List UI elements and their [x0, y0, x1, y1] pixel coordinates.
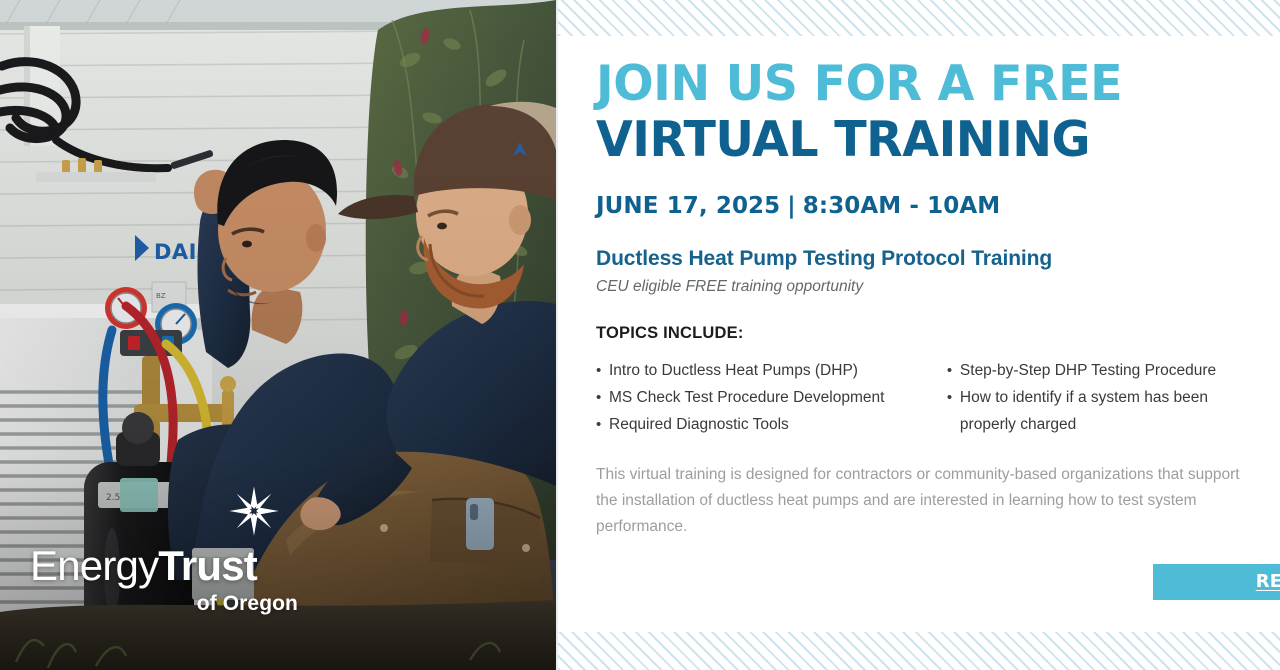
page-title: JOIN US FOR A FREE VIRTUAL TRAINING	[596, 56, 1246, 168]
topic-label: MS Check Test Procedure Development	[609, 384, 947, 411]
bullet-icon: •	[947, 357, 960, 384]
event-time: 8:30AM - 10AM	[803, 193, 1000, 219]
content-panel: JOIN US FOR A FREE VIRTUAL TRAINING JUNE…	[556, 0, 1280, 670]
list-item: • MS Check Test Procedure Development	[596, 384, 947, 411]
hero-photo: DAIKIN BZ	[0, 0, 556, 670]
register-button[interactable]: REGISTER TO RESERVE YOUR SPOT TODAY!	[1153, 564, 1280, 600]
diagonal-stripe-top	[558, 0, 1280, 36]
list-item: • Intro to Ductless Heat Pumps (DHP)	[596, 357, 947, 384]
topics-column-right: • Step-by-Step DHP Testing Procedure • H…	[947, 357, 1246, 438]
content-inner: JOIN US FOR A FREE VIRTUAL TRAINING JUNE…	[596, 56, 1246, 540]
list-item: • How to identify if a system has been p…	[947, 384, 1246, 438]
promo-banner: DAIKIN BZ	[0, 0, 1280, 670]
headline-line-1: JOIN US FOR A FREE	[596, 56, 1227, 112]
bullet-icon: •	[596, 411, 609, 438]
topics-column-left: • Intro to Ductless Heat Pumps (DHP) • M…	[596, 357, 947, 438]
session-subtitle: CEU eligible FREE training opportunity	[596, 277, 1246, 297]
bullet-icon: •	[596, 357, 609, 384]
date-separator: |	[780, 193, 803, 219]
topic-label: How to identify if a system has been pro…	[960, 384, 1246, 438]
topic-label: Step-by-Step DHP Testing Procedure	[960, 357, 1246, 384]
list-item: • Required Diagnostic Tools	[596, 411, 947, 438]
event-date: JUNE 17, 2025	[596, 193, 780, 219]
event-datetime: JUNE 17, 2025|8:30AM - 10AM	[596, 192, 1246, 220]
bullet-icon: •	[947, 384, 960, 411]
bullet-icon: •	[596, 384, 609, 411]
topic-label: Required Diagnostic Tools	[609, 411, 947, 438]
description-text: This virtual training is designed for co…	[596, 462, 1244, 540]
topic-label: Intro to Ductless Heat Pumps (DHP)	[609, 357, 947, 384]
register-button-label: REGISTER TO RESERVE YOUR SPOT TODAY!	[1256, 572, 1280, 592]
topics-columns: • Intro to Ductless Heat Pumps (DHP) • M…	[596, 357, 1246, 438]
headline-line-2: VIRTUAL TRAINING	[596, 112, 1227, 168]
technicians-photo-illustration: DAIKIN BZ	[0, 0, 556, 670]
list-item: • Step-by-Step DHP Testing Procedure	[947, 357, 1246, 384]
session-title: Ductless Heat Pump Testing Protocol Trai…	[596, 246, 1246, 272]
topics-heading: TOPICS INCLUDE:	[596, 323, 1246, 343]
diagonal-stripe-bottom	[558, 632, 1280, 670]
